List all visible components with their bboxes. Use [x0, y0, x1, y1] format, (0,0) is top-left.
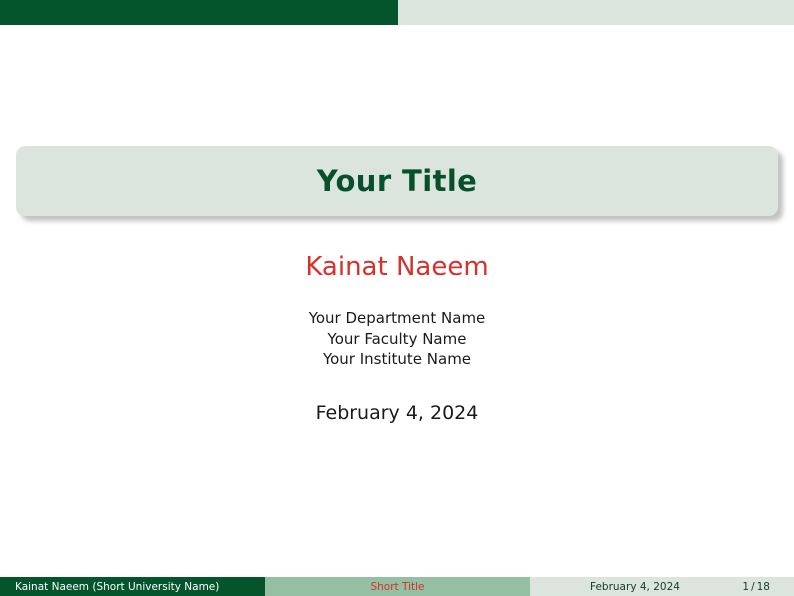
author-name: Kainat Naeem [0, 250, 794, 284]
institute-line-department: Your Department Name [0, 308, 794, 329]
slide-footer-bar: Kainat Naeem (Short University Name) Sho… [0, 577, 794, 596]
title-slide-content: Kainat Naeem Your Department Name Your F… [0, 250, 794, 424]
footer-author-section: Kainat Naeem (Short University Name) [0, 577, 265, 596]
title-block: Your Title [16, 146, 778, 216]
footer-page-separator: / [749, 581, 757, 593]
footer-page-total: 18 [757, 581, 770, 593]
page-title: Your Title [317, 164, 478, 198]
footer-short-title-label: Short Title [370, 581, 424, 593]
footer-date-label: February 4, 2024 [590, 581, 680, 593]
title-panel: Your Title [16, 146, 778, 216]
footer-date-page-section: February 4, 2024 1/18 [530, 577, 794, 596]
header-bar-dark-segment [0, 0, 398, 25]
slide-header-bar [0, 0, 794, 25]
footer-title-section: Short Title [265, 577, 530, 596]
footer-page-number: 1/18 [742, 581, 770, 593]
institute-line-faculty: Your Faculty Name [0, 329, 794, 350]
institute-line-institute: Your Institute Name [0, 349, 794, 370]
institute-block: Your Department Name Your Faculty Name Y… [0, 308, 794, 370]
footer-author-label: Kainat Naeem (Short University Name) [15, 581, 219, 593]
header-bar-light-segment [398, 0, 794, 25]
presentation-date: February 4, 2024 [0, 402, 794, 424]
